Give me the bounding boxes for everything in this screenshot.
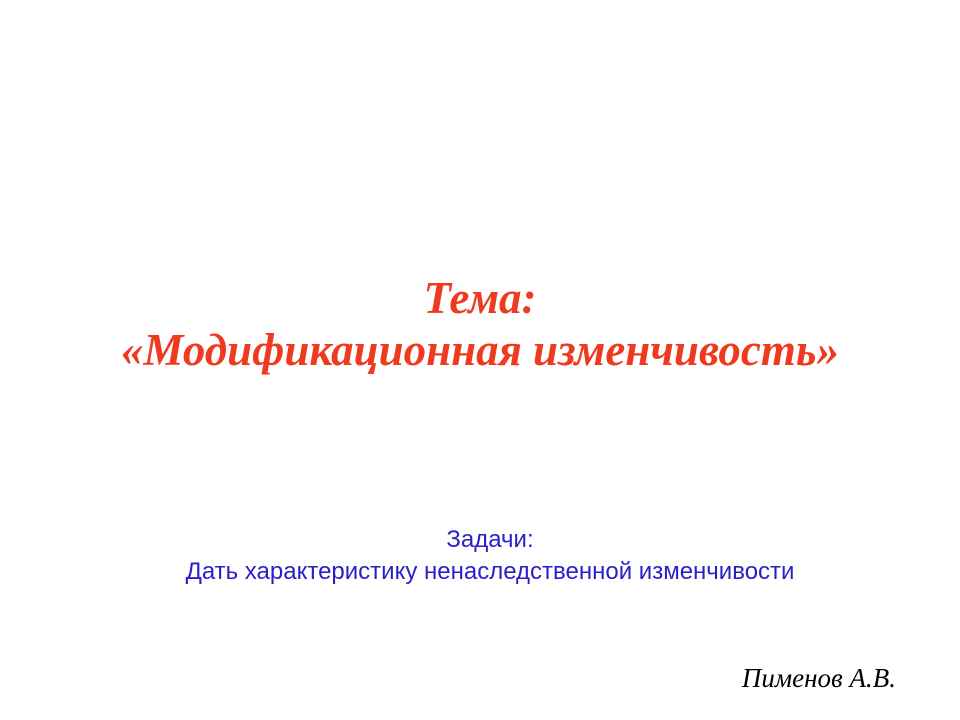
title-line-2: «Модификационная изменчивость» [0,324,960,376]
subtitle-line-2: Дать характеристику ненаследственной изм… [0,556,960,588]
slide-subtitle: Задачи: Дать характеристику ненаследстве… [0,524,960,587]
slide-title: Тема: «Модификационная изменчивость» [0,272,960,376]
presentation-slide: Тема: «Модификационная изменчивость» Зад… [0,0,960,720]
subtitle-line-1: Задачи: [0,524,960,556]
title-line-1: Тема: [0,272,960,324]
author-name: Пименов А.В. [0,662,896,694]
